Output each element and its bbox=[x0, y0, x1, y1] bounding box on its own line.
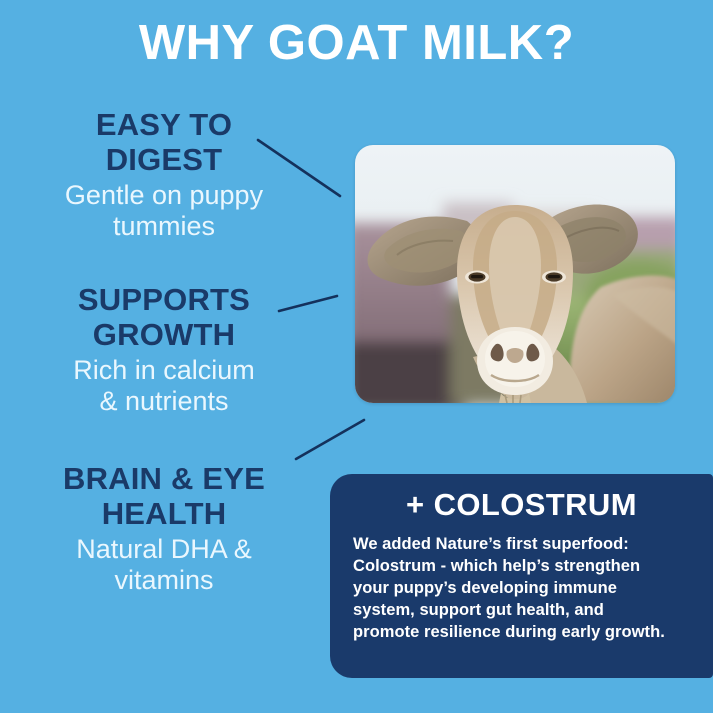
benefit-heading: BRAIN & EYE HEALTH bbox=[8, 462, 320, 531]
benefit-subtext: Gentle on puppy tummies bbox=[8, 180, 320, 242]
goat-photo-illustration bbox=[355, 145, 675, 403]
connector-line-3 bbox=[296, 420, 364, 459]
benefit-item-supports-growth: SUPPORTS GROWTH Rich in calcium & nutrie… bbox=[8, 283, 320, 418]
benefit-subtext-line: tummies bbox=[8, 211, 320, 242]
benefit-item-easy-to-digest: EASY TO DIGEST Gentle on puppy tummies bbox=[8, 108, 320, 243]
colostrum-title: + COLOSTRUM bbox=[344, 488, 699, 522]
colostrum-body-line: system, support gut health, and bbox=[353, 600, 699, 622]
benefit-heading-line: DIGEST bbox=[8, 143, 320, 178]
colostrum-body-line: promote resilience during early growth. bbox=[353, 622, 699, 644]
benefit-heading-line: HEALTH bbox=[8, 497, 320, 532]
goat-photo bbox=[355, 145, 675, 403]
benefit-heading: EASY TO DIGEST bbox=[8, 108, 320, 177]
benefit-item-brain-and-eye-health: BRAIN & EYE HEALTH Natural DHA & vitamin… bbox=[8, 462, 320, 597]
colostrum-body-line: We added Nature’s first superfood: bbox=[353, 534, 699, 556]
benefit-heading-line: EASY TO bbox=[8, 108, 320, 143]
benefit-heading-line: GROWTH bbox=[8, 318, 320, 353]
benefit-subtext-line: & nutrients bbox=[8, 386, 320, 417]
benefit-subtext-line: Rich in calcium bbox=[8, 355, 320, 386]
colostrum-body-line: Colostrum - which help’s strengthen bbox=[353, 556, 699, 578]
benefit-subtext-line: vitamins bbox=[8, 565, 320, 596]
colostrum-panel: + COLOSTRUM We added Nature’s first supe… bbox=[330, 474, 713, 678]
benefit-subtext: Natural DHA & vitamins bbox=[8, 534, 320, 596]
colostrum-body: We added Nature’s first superfood: Colos… bbox=[344, 534, 699, 644]
benefit-heading: SUPPORTS GROWTH bbox=[8, 283, 320, 352]
benefit-subtext: Rich in calcium & nutrients bbox=[8, 355, 320, 417]
benefit-heading-line: SUPPORTS bbox=[8, 283, 320, 318]
benefit-heading-line: BRAIN & EYE bbox=[8, 462, 320, 497]
colostrum-body-line: your puppy’s developing immune bbox=[353, 578, 699, 600]
page-title: WHY GOAT MILK? bbox=[0, 18, 713, 69]
benefit-subtext-line: Natural DHA & bbox=[8, 534, 320, 565]
goat-milk-infographic: WHY GOAT MILK? EASY TO DIGEST Gentle on … bbox=[0, 0, 713, 713]
benefit-subtext-line: Gentle on puppy bbox=[8, 180, 320, 211]
